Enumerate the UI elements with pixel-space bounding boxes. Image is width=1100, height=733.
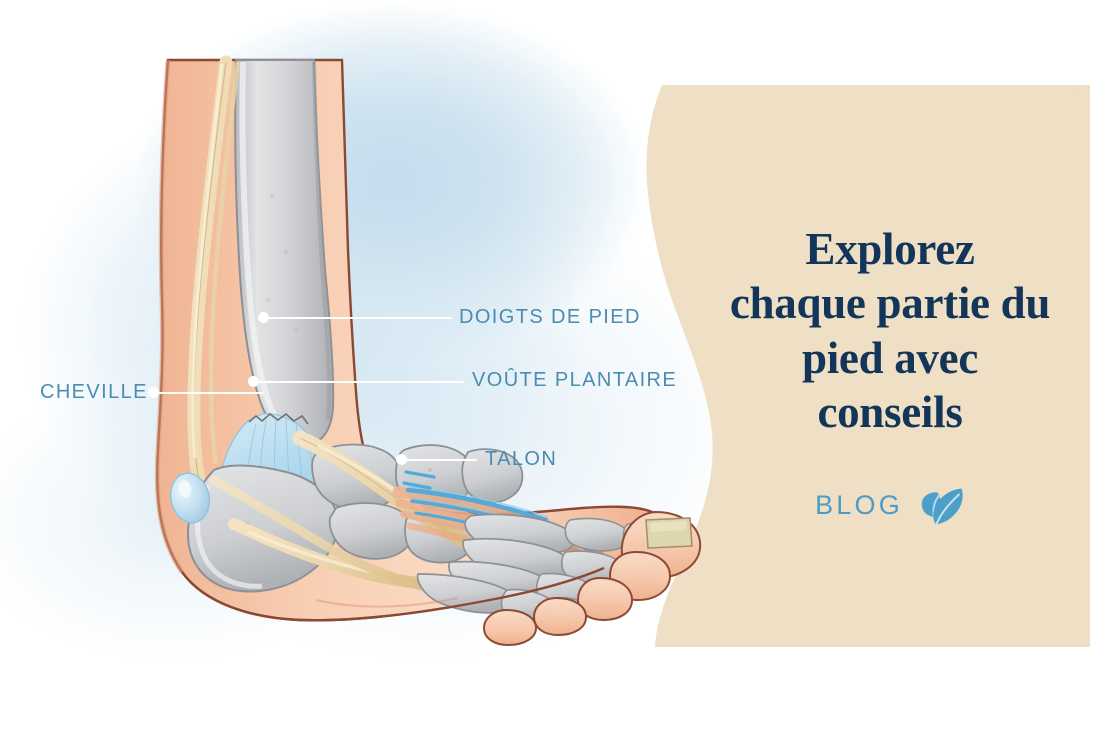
leaf-icon [917, 482, 965, 528]
leader-dot-cheville [148, 387, 159, 398]
panel-title: Explorez chaque partie du pied avec cons… [700, 222, 1080, 440]
panel-title-line-2: chaque partie du [700, 276, 1080, 330]
panel-text-block: Explorez chaque partie du pied avec cons… [700, 222, 1080, 440]
blog-brand-row: BLOG [700, 482, 1080, 528]
leader-line-cheville [148, 392, 263, 394]
leader-dot-voute-plantaire [248, 376, 259, 387]
leader-dot-talon [396, 454, 407, 465]
leader-dot-doigts-de-pied [258, 312, 269, 323]
leader-line-voute-plantaire [252, 381, 464, 383]
leader-line-talon [400, 459, 477, 461]
callout-label-doigts-de-pied: DOIGTS DE PIED [459, 306, 641, 329]
panel-title-line-1: Explorez [700, 222, 1080, 276]
callout-label-cheville: CHEVILLE [40, 381, 148, 404]
callout-label-voute-plantaire: VOÛTE PLANTAIRE [472, 369, 677, 392]
callout-label-talon: TALON [485, 448, 557, 471]
blog-label: BLOG [815, 490, 903, 521]
panel-title-line-4: conseils [700, 385, 1080, 439]
panel-title-line-3: pied avec [700, 331, 1080, 385]
blog-banner: CHEVILLE DOIGTS DE PIED VOÛTE PLANTAIRE … [0, 0, 1100, 733]
leader-line-doigts-de-pied [262, 317, 452, 319]
foot-anatomy-illustration [0, 0, 720, 680]
